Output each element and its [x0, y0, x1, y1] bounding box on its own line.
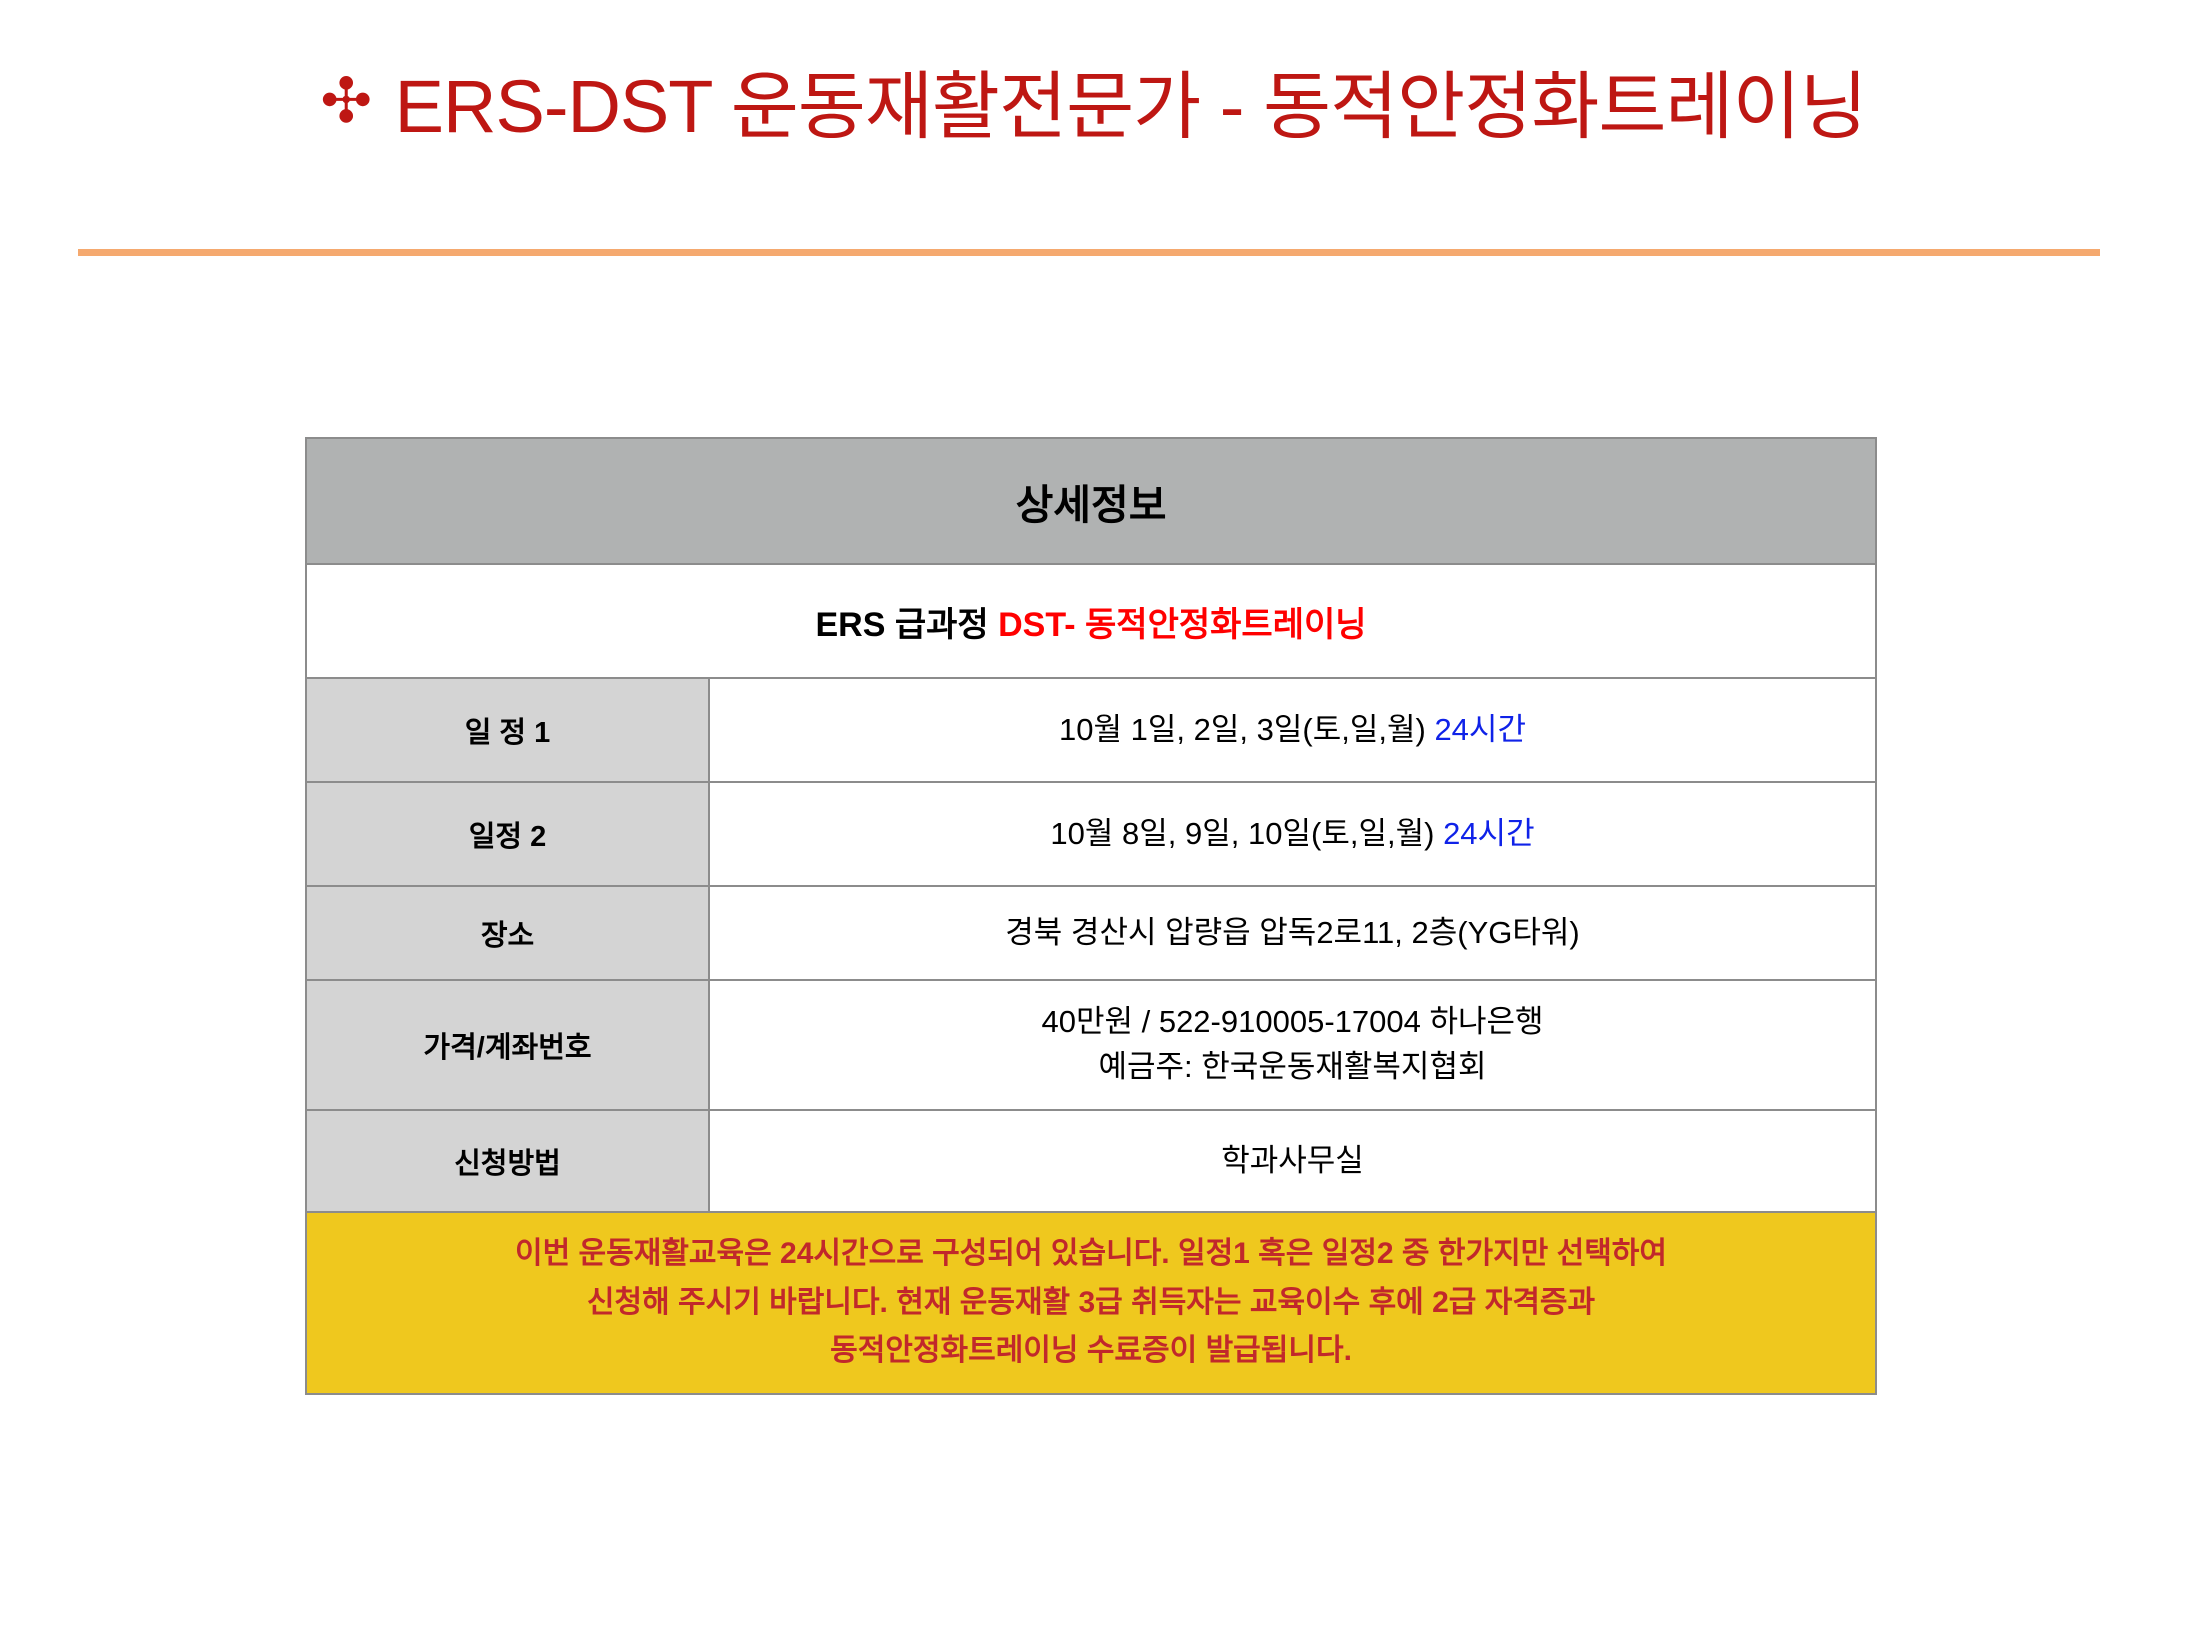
footer-note: 이번 운동재활교육은 24시간으로 구성되어 있습니다. 일정1 혹은 일정2 … — [306, 1212, 1876, 1394]
row-value-location: 경북 경산시 압량읍 압독2로11, 2층(YG타워) — [709, 886, 1876, 980]
table-header-row: 상세정보 — [306, 438, 1876, 564]
table-row: 가격/계좌번호 40만원 / 522-910005-17004 하나은행 예금주… — [306, 980, 1876, 1110]
row-value-price-account: 40만원 / 522-910005-17004 하나은행 예금주: 한국운동재활… — [709, 980, 1876, 1110]
four-petal-club-icon: ✣ — [320, 71, 372, 133]
row-value-schedule-1: 10월 1일, 2일, 3일(토,일,월) 24시간 — [709, 678, 1876, 782]
row-label-application-method: 신청방법 — [306, 1110, 709, 1212]
price-account-line-1: 40만원 / 522-910005-17004 하나은행 — [710, 1000, 1875, 1045]
row-label-schedule-2: 일정 2 — [306, 782, 709, 886]
footer-note-line-2: 신청해 주시기 바랍니다. 현재 운동재활 3급 취득자는 교육이수 후에 2급… — [331, 1279, 1851, 1328]
table-footer-row: 이번 운동재활교육은 24시간으로 구성되어 있습니다. 일정1 혹은 일정2 … — [306, 1212, 1876, 1394]
course-subtitle-plain: ERS 급과정 — [815, 606, 998, 644]
table-row: 일 정 1 10월 1일, 2일, 3일(토,일,월) 24시간 — [306, 678, 1876, 782]
row-label-location: 장소 — [306, 886, 709, 980]
table-row: 장소 경북 경산시 압량읍 압독2로11, 2층(YG타워) — [306, 886, 1876, 980]
detail-info-table: 상세정보 ERS 급과정 DST- 동적안정화트레이닝 일 정 1 10월 1일… — [305, 437, 1877, 1395]
schedule-1-dates: 10월 1일, 2일, 3일(토,일,월) — [1059, 712, 1434, 747]
price-account-line-2: 예금주: 한국운동재활복지협회 — [710, 1045, 1875, 1090]
course-subtitle-accent: DST- 동적안정화트레이닝 — [998, 606, 1366, 644]
table-subtitle-row: ERS 급과정 DST- 동적안정화트레이닝 — [306, 564, 1876, 678]
footer-note-line-3: 동적안정화트레이닝 수료증이 발급됩니다. — [331, 1327, 1851, 1376]
row-label-schedule-1: 일 정 1 — [306, 678, 709, 782]
page-title: ✣ ERS-DST 운동재활전문가 - 동적안정화트레이닝 — [0, 70, 2187, 144]
schedule-2-hours: 24시간 — [1443, 816, 1535, 851]
table-row: 신청방법 학과사무실 — [306, 1110, 1876, 1212]
table-row: 일정 2 10월 8일, 9일, 10일(토,일,월) 24시간 — [306, 782, 1876, 886]
page-title-text: ERS-DST 운동재활전문가 - 동적안정화트레이닝 — [395, 70, 1867, 144]
table-header-title: 상세정보 — [306, 438, 1876, 564]
row-value-schedule-2: 10월 8일, 9일, 10일(토,일,월) 24시간 — [709, 782, 1876, 886]
footer-note-line-1: 이번 운동재활교육은 24시간으로 구성되어 있습니다. 일정1 혹은 일정2 … — [331, 1230, 1851, 1279]
schedule-1-hours: 24시간 — [1434, 712, 1526, 747]
row-label-price-account: 가격/계좌번호 — [306, 980, 709, 1110]
row-value-application-method: 학과사무실 — [709, 1110, 1876, 1212]
schedule-2-dates: 10월 8일, 9일, 10일(토,일,월) — [1050, 816, 1443, 851]
title-divider — [78, 249, 2100, 256]
course-subtitle: ERS 급과정 DST- 동적안정화트레이닝 — [306, 564, 1876, 678]
